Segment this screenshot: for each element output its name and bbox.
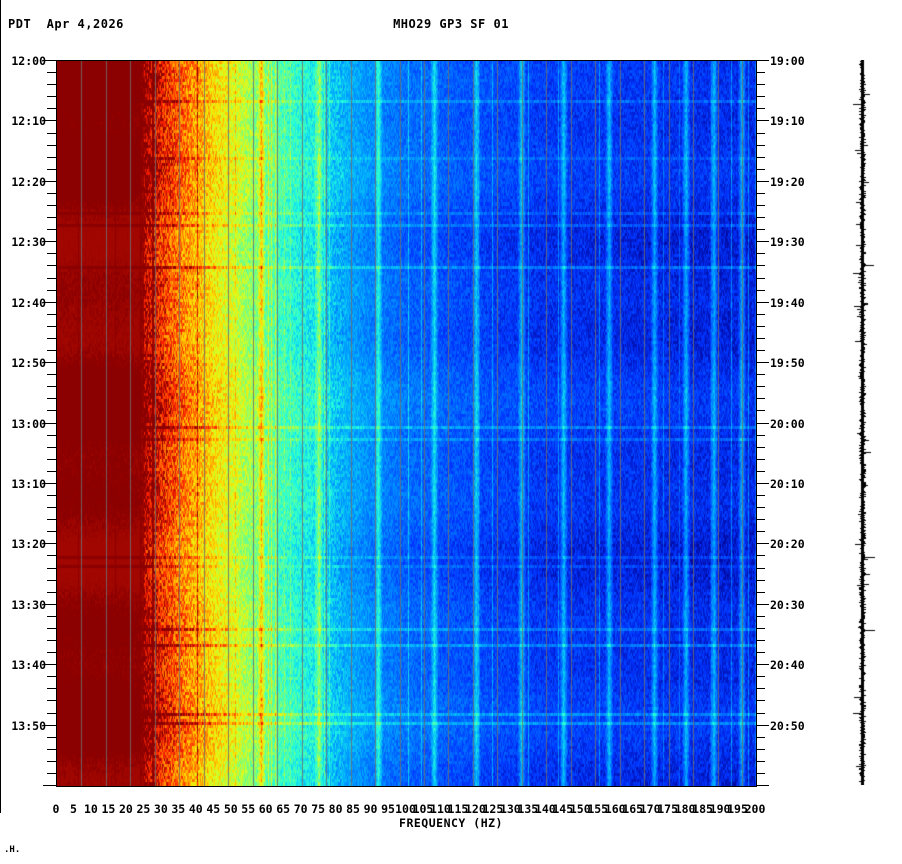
xaxis-label-7: 35 (171, 802, 185, 816)
ytick-right-32 (756, 253, 765, 254)
ytick-right-80 (756, 543, 769, 544)
xtick-157.5 (0, 633, 1, 640)
ytick-right-90 (756, 604, 769, 605)
ytick-right-22 (756, 193, 765, 194)
xaxis-label-40: 200 (745, 802, 766, 816)
xaxis-title: FREQUENCY (HZ) (0, 816, 902, 830)
ytick-left-66 (47, 459, 56, 460)
ytick-left-22 (47, 193, 56, 194)
ytick-right-24 (756, 205, 765, 206)
ytick-right-68 (756, 471, 765, 472)
ytick-right-6 (756, 96, 765, 97)
xaxis-label-13: 65 (276, 802, 290, 816)
yaxis-right-label-5: 19:50 (770, 356, 805, 370)
xtick-95 (0, 380, 1, 393)
xaxis-label-0: 0 (53, 802, 60, 816)
spectrogram-plot[interactable] (56, 60, 757, 787)
ytick-right-96 (756, 640, 765, 641)
ytick-right-86 (756, 580, 765, 581)
yaxis-right-label-11: 20:50 (770, 719, 805, 733)
xaxis-label-4: 20 (119, 802, 133, 816)
ytick-left-32 (47, 253, 56, 254)
xtick-125 (0, 500, 1, 513)
xtick-115 (0, 460, 1, 473)
ytick-left-108 (47, 713, 56, 714)
ytick-right-30 (756, 241, 769, 242)
xaxis-label-19: 95 (381, 802, 395, 816)
ytick-right-20 (756, 181, 769, 182)
yaxis-left-label-0: 12:00 (0, 54, 46, 68)
ytick-left-14 (47, 145, 56, 146)
ytick-right-12 (756, 133, 765, 134)
xtick-32.5 (0, 133, 1, 140)
yaxis-left-label-2: 12:20 (0, 175, 46, 189)
ytick-right-98 (756, 652, 765, 653)
xtick-127.5 (0, 513, 1, 520)
yaxis-right-label-2: 19:20 (770, 175, 805, 189)
ytick-left-26 (47, 217, 56, 218)
ytick-right-56 (756, 398, 765, 399)
ytick-left-64 (47, 447, 56, 448)
ytick-right-118 (756, 773, 765, 774)
yaxis-left-label-9: 13:30 (0, 598, 46, 612)
ytick-right-16 (756, 157, 765, 158)
xtick-37.5 (0, 153, 1, 160)
ytick-right-112 (756, 737, 765, 738)
xtick-187.5 (0, 753, 1, 760)
xaxis-label-18: 90 (364, 802, 378, 816)
ytick-left-114 (47, 749, 56, 750)
ytick-right-58 (756, 410, 765, 411)
yaxis-right-label-4: 19:40 (770, 296, 805, 310)
ytick-right-106 (756, 700, 765, 701)
ytick-right-26 (756, 217, 765, 218)
xtick-35 (0, 140, 1, 153)
xtick-55 (0, 220, 1, 233)
yaxis-right-label-0: 19:00 (770, 54, 805, 68)
ytick-right-34 (756, 265, 765, 266)
xtick-200 (0, 800, 1, 813)
ytick-right-76 (756, 519, 765, 520)
xtick-0 (0, 0, 1, 13)
ytick-right-14 (756, 145, 765, 146)
xtick-22.5 (0, 93, 1, 100)
xtick-192.5 (0, 773, 1, 780)
ytick-left-96 (47, 640, 56, 641)
xtick-82.5 (0, 333, 1, 340)
xtick-142.5 (0, 573, 1, 580)
yaxis-right-label-7: 20:10 (770, 477, 805, 491)
ytick-left-54 (47, 386, 56, 387)
ytick-left-86 (47, 580, 56, 581)
xtick-85 (0, 340, 1, 353)
xtick-62.5 (0, 253, 1, 260)
xtick-122.5 (0, 493, 1, 500)
ytick-left-76 (47, 519, 56, 520)
ytick-left-106 (47, 700, 56, 701)
xaxis-label-2: 10 (84, 802, 98, 816)
yaxis-right-label-6: 20:00 (770, 417, 805, 431)
yaxis-right-label-1: 19:10 (770, 114, 805, 128)
ytick-right-110 (756, 725, 769, 726)
yaxis-left-label-7: 13:10 (0, 477, 46, 491)
xtick-52.5 (0, 213, 1, 220)
ytick-right-28 (756, 229, 765, 230)
yaxis-left-label-6: 13:00 (0, 417, 46, 431)
ytick-right-88 (756, 592, 765, 593)
yaxis-right-label-8: 20:20 (770, 537, 805, 551)
ytick-right-82 (756, 555, 765, 556)
ytick-right-92 (756, 616, 765, 617)
yaxis-right-label-3: 19:30 (770, 235, 805, 249)
ytick-left-72 (47, 495, 56, 496)
ytick-right-94 (756, 628, 765, 629)
xtick-167.5 (0, 673, 1, 680)
ytick-left-58 (47, 410, 56, 411)
ytick-right-66 (756, 459, 765, 460)
xtick-97.5 (0, 393, 1, 400)
xtick-10 (0, 40, 1, 53)
yaxis-left-label-11: 13:50 (0, 719, 46, 733)
ytick-right-4 (756, 84, 765, 85)
xtick-50 (0, 200, 1, 213)
seismic-trace-canvas (840, 60, 892, 785)
ytick-left-52 (47, 374, 56, 375)
ytick-left-68 (47, 471, 56, 472)
ytick-left-28 (47, 229, 56, 230)
ytick-left-112 (47, 737, 56, 738)
ytick-left-84 (47, 568, 56, 569)
corner-mark: .H. (4, 846, 20, 855)
ytick-right-104 (756, 688, 765, 689)
ytick-left-44 (47, 326, 56, 327)
yaxis-left-label-8: 13:20 (0, 537, 46, 551)
xtick-160 (0, 640, 1, 653)
ytick-right-102 (756, 676, 765, 677)
ytick-right-114 (756, 749, 765, 750)
ytick-right-54 (756, 386, 765, 387)
xtick-77.5 (0, 313, 1, 320)
xtick-112.5 (0, 453, 1, 460)
ytick-left-62 (47, 435, 56, 436)
xtick-140 (0, 560, 1, 573)
xtick-65 (0, 260, 1, 273)
ytick-left-42 (47, 314, 56, 315)
ytick-right-100 (756, 664, 769, 665)
xtick-197.5 (0, 793, 1, 800)
xtick-92.5 (0, 373, 1, 380)
ytick-left-2 (47, 72, 56, 73)
xtick-130 (0, 520, 1, 533)
ytick-right-36 (756, 278, 765, 279)
ytick-left-74 (47, 507, 56, 508)
xtick-47.5 (0, 193, 1, 200)
ytick-right-42 (756, 314, 765, 315)
side-seismic-trace (840, 60, 892, 785)
xaxis-label-16: 80 (329, 802, 343, 816)
ytick-left-92 (47, 616, 56, 617)
ytick-right-40 (756, 302, 769, 303)
ytick-right-50 (756, 362, 769, 363)
ytick-right-72 (756, 495, 765, 496)
header-timezone-utc: UTC (636, 17, 902, 31)
ytick-left-24 (47, 205, 56, 206)
ytick-left-18 (47, 169, 56, 170)
xaxis-label-9: 45 (206, 802, 220, 816)
xtick-17.5 (0, 73, 1, 80)
xtick-25 (0, 100, 1, 113)
xtick-20 (0, 80, 1, 93)
ytick-left-104 (47, 688, 56, 689)
ytick-left-102 (47, 676, 56, 677)
ytick-left-6 (47, 96, 56, 97)
ytick-left-12 (47, 133, 56, 134)
xtick-155 (0, 620, 1, 633)
xaxis-label-6: 30 (154, 802, 168, 816)
ytick-left-82 (47, 555, 56, 556)
xtick-190 (0, 760, 1, 773)
xtick-107.5 (0, 433, 1, 440)
xaxis-label-11: 55 (241, 802, 255, 816)
ytick-left-48 (47, 350, 56, 351)
ytick-left-38 (47, 290, 56, 291)
ytick-right-70 (756, 483, 769, 484)
yaxis-right-label-10: 20:40 (770, 658, 805, 672)
xtick-100 (0, 400, 1, 413)
ytick-left-116 (47, 761, 56, 762)
xtick-80 (0, 320, 1, 333)
xaxis-label-8: 40 (189, 802, 203, 816)
ytick-right-52 (756, 374, 765, 375)
xtick-195 (0, 780, 1, 793)
xaxis-label-15: 75 (311, 802, 325, 816)
ytick-right-0 (756, 60, 769, 61)
xaxis-label-10: 50 (224, 802, 238, 816)
xaxis-label-12: 60 (259, 802, 273, 816)
ytick-right-46 (756, 338, 765, 339)
xtick-137.5 (0, 553, 1, 560)
ytick-right-64 (756, 447, 765, 448)
ytick-left-36 (47, 278, 56, 279)
ytick-right-78 (756, 531, 765, 532)
ytick-right-10 (756, 120, 769, 121)
ytick-right-38 (756, 290, 765, 291)
xaxis-label-3: 15 (101, 802, 115, 816)
yaxis-left-label-5: 12:50 (0, 356, 46, 370)
ytick-right-120 (756, 785, 769, 786)
xtick-182.5 (0, 733, 1, 740)
xtick-170 (0, 680, 1, 693)
ytick-left-88 (47, 592, 56, 593)
ytick-right-62 (756, 435, 765, 436)
ytick-left-4 (47, 84, 56, 85)
xaxis-label-1: 5 (70, 802, 77, 816)
ytick-left-98 (47, 652, 56, 653)
ytick-right-44 (756, 326, 765, 327)
ytick-right-48 (756, 350, 765, 351)
ytick-left-8 (47, 108, 56, 109)
ytick-left-120 (43, 785, 56, 786)
xtick-70 (0, 280, 1, 293)
ytick-right-18 (756, 169, 765, 170)
xtick-185 (0, 740, 1, 753)
xaxis-label-17: 85 (346, 802, 360, 816)
yaxis-left-label-10: 13:40 (0, 658, 46, 672)
ytick-right-116 (756, 761, 765, 762)
xtick-172.5 (0, 693, 1, 700)
xtick-110 (0, 440, 1, 453)
xtick-175 (0, 700, 1, 713)
ytick-right-8 (756, 108, 765, 109)
xtick-7.5 (0, 33, 1, 40)
xtick-40 (0, 160, 1, 173)
ytick-left-46 (47, 338, 56, 339)
ytick-right-108 (756, 713, 765, 714)
ytick-right-60 (756, 423, 769, 424)
xaxis-label-14: 70 (294, 802, 308, 816)
yaxis-left-label-4: 12:40 (0, 296, 46, 310)
spectrogram-heatmap-canvas[interactable] (57, 61, 756, 786)
ytick-left-118 (47, 773, 56, 774)
ytick-left-34 (47, 265, 56, 266)
ytick-right-2 (756, 72, 765, 73)
ytick-right-84 (756, 568, 765, 569)
xtick-152.5 (0, 613, 1, 620)
yaxis-right-label-9: 20:30 (770, 598, 805, 612)
ytick-right-74 (756, 507, 765, 508)
xtick-145 (0, 580, 1, 593)
xaxis-label-5: 25 (136, 802, 150, 816)
xtick-67.5 (0, 273, 1, 280)
ytick-left-78 (47, 531, 56, 532)
ytick-left-16 (47, 157, 56, 158)
ytick-left-56 (47, 398, 56, 399)
yaxis-left-label-1: 12:10 (0, 114, 46, 128)
yaxis-left-label-3: 12:30 (0, 235, 46, 249)
ytick-left-94 (47, 628, 56, 629)
